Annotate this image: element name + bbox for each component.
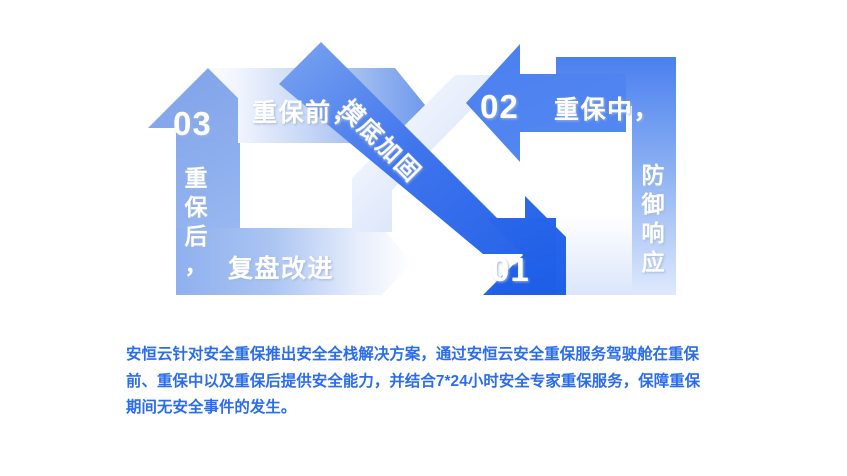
stage-01-number: 01	[491, 251, 530, 288]
bottom-band-label: 复盘改进	[228, 254, 334, 283]
stage-03-number: 03	[173, 105, 212, 142]
vert-char-3: 后	[185, 223, 208, 249]
vert-char-4: ，	[185, 252, 208, 278]
vert-char-1: 重	[185, 165, 208, 191]
description-paragraph: 安恒云针对安全重保推出安全全栈解决方案，通过安恒云安全重保服务驾驶舱在重保前、重…	[126, 342, 711, 422]
process-cycle-diagram: 03 重保前， 重 保 后 ， 复盘改进 摸底加固 02 重保中， 防 御 响 …	[0, 0, 847, 330]
vert-r-char-3: 响	[642, 220, 665, 246]
vert-r-char-1: 防	[642, 162, 665, 188]
vert-char-2: 保	[184, 194, 209, 220]
stage-02-number: 02	[480, 88, 519, 125]
vert-r-char-2: 御	[641, 191, 665, 217]
stage-02-phase-label: 重保中，	[554, 96, 660, 124]
stage-02-lower-block	[556, 215, 632, 295]
vert-r-char-4: 应	[642, 249, 665, 275]
page-root: 03 重保前， 重 保 后 ， 复盘改进 摸底加固 02 重保中， 防 御 响 …	[0, 0, 847, 476]
